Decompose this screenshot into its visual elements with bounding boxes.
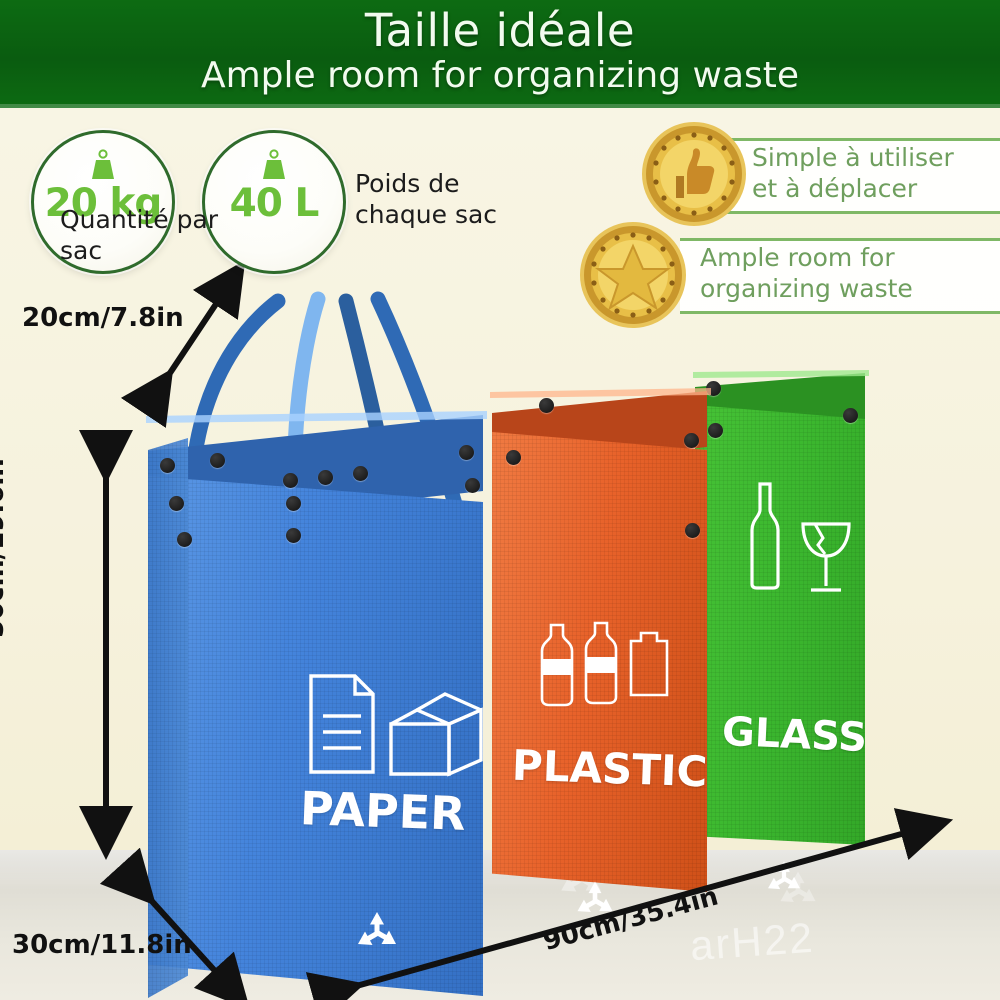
feature-text-1: Simple à utiliser et à déplacer [752,142,992,204]
dimension-depth-bottom: 30cm/11.8in [12,930,192,960]
feature-text-2: Ample room for organizing waste [700,242,980,304]
feature-text-line1: Simple à utiliser [752,142,992,173]
dimension-depth-top: 20cm/7.8in [22,303,184,333]
feature-text-line1: Ample room for [700,242,980,273]
weight-icon [257,149,291,183]
badge-caption-weight: Poids de chaque sac [355,168,555,230]
feature-text-line2: organizing waste [700,273,980,304]
weight-icon [86,149,120,183]
badge-caption-quantity: Quantité par sac [60,204,250,266]
dimension-height: 50cm/19.6in [0,458,10,638]
thumbs-up-medal-icon [640,120,748,228]
product-scene: arH22 [0,108,1000,1000]
arrow-depth-top [160,280,232,388]
page-subtitle: Ample room for organizing waste [0,55,1000,96]
star-medal-icon [578,220,688,330]
feature-text-line2: et à déplacer [752,173,992,204]
header-banner: Taille idéale Ample room for organizing … [0,0,1000,108]
page-title: Taille idéale [0,4,1000,57]
infographic-stage: Taille idéale Ample room for organizing … [0,0,1000,1000]
